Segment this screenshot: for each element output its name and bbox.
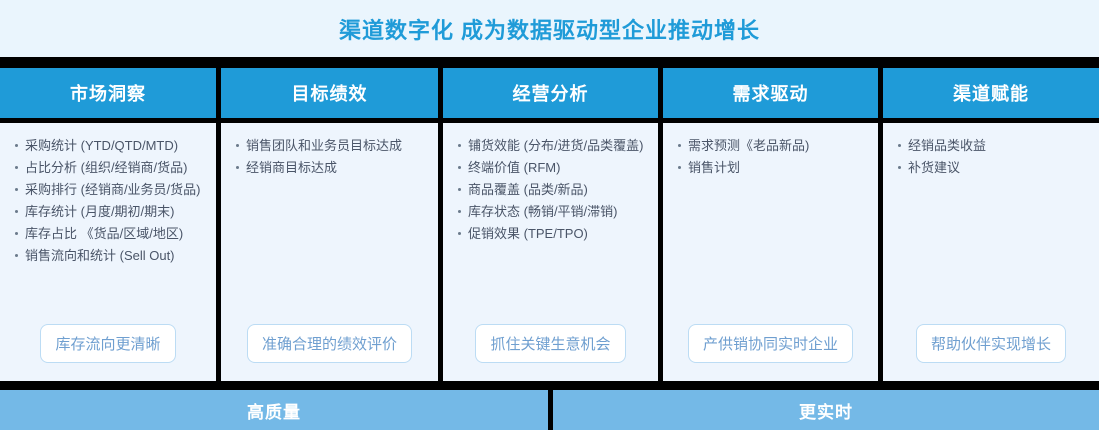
column-body-2: 销售团队和业务员目标达成 经销商目标达成 准确合理的绩效评价 [221,123,438,381]
column-header-label-3: 经营分析 [513,80,589,106]
divider-top [0,57,1099,68]
bottom-segment-label-2: 更实时 [799,398,853,423]
list-item: 促销效果 (TPE/TPO) [457,223,644,244]
bullet-list-5: 经销品类收益 补货建议 [897,135,1085,324]
column-header-label-5: 渠道赋能 [953,80,1029,106]
column-target-performance: 目标绩效 销售团队和业务员目标达成 经销商目标达成 准确合理的绩效评价 [221,68,438,381]
column-header-3: 经营分析 [443,68,658,118]
column-header-label-4: 需求驱动 [733,80,809,106]
list-item: 占比分析 (组织/经销商/货品) [14,157,202,178]
bullet-list-1: 采购统计 (YTD/QTD/MTD) 占比分析 (组织/经销商/货品) 采购排行… [14,135,202,324]
bullet-list-2: 销售团队和业务员目标达成 经销商目标达成 [235,135,424,324]
list-item: 采购统计 (YTD/QTD/MTD) [14,135,202,156]
list-item: 商品覆盖 (品类/新品) [457,179,644,200]
list-item: 补货建议 [897,157,1085,178]
column-header-label-2: 目标绩效 [292,80,368,106]
column-body-1: 采购统计 (YTD/QTD/MTD) 占比分析 (组织/经销商/货品) 采购排行… [0,123,216,381]
outcome-pill-3[interactable]: 抓住关键生意机会 [475,324,625,363]
column-header-label-1: 市场洞察 [70,80,146,106]
bullet-list-4: 需求预测《老品新品) 销售计划 [677,135,864,324]
title-band: 渠道数字化 成为数据驱动型企业推动增长 [0,0,1099,57]
column-group: 市场洞察 采购统计 (YTD/QTD/MTD) 占比分析 (组织/经销商/货品)… [0,68,1099,381]
column-market-insight: 市场洞察 采购统计 (YTD/QTD/MTD) 占比分析 (组织/经销商/货品)… [0,68,216,381]
bottom-segment-realtime: 更实时 [553,390,1099,430]
list-item: 采购排行 (经销商/业务员/货品) [14,179,202,200]
list-item: 销售计划 [677,157,864,178]
outcome-pill-2[interactable]: 准确合理的绩效评价 [247,324,412,363]
pill-wrap-1: 库存流向更清晰 [14,324,202,381]
list-item: 经销品类收益 [897,135,1085,156]
infographic-root: 渠道数字化 成为数据驱动型企业推动增长 市场洞察 采购统计 (YTD/QTD/M… [0,0,1099,430]
list-item: 经销商目标达成 [235,157,424,178]
list-item: 需求预测《老品新品) [677,135,864,156]
pill-wrap-5: 帮助伙伴实现增长 [897,324,1085,381]
bottom-segment-quality: 高质量 [0,390,548,430]
column-body-5: 经销品类收益 补货建议 帮助伙伴实现增长 [883,123,1099,381]
list-item: 铺货效能 (分布/进货/品类覆盖) [457,135,644,156]
bottom-segment-label-1: 高质量 [247,398,301,423]
column-header-4: 需求驱动 [663,68,878,118]
pill-wrap-3: 抓住关键生意机会 [457,324,644,381]
column-header-5: 渠道赋能 [883,68,1099,118]
outcome-pill-1[interactable]: 库存流向更清晰 [40,324,175,363]
outcome-pill-4[interactable]: 产供销协同实时企业 [688,324,853,363]
column-header-2: 目标绩效 [221,68,438,118]
column-body-4: 需求预测《老品新品) 销售计划 产供销协同实时企业 [663,123,878,381]
outcome-pill-5[interactable]: 帮助伙伴实现增长 [916,324,1066,363]
list-item: 终端价值 (RFM) [457,157,644,178]
pill-wrap-2: 准确合理的绩效评价 [235,324,424,381]
column-header-1: 市场洞察 [0,68,216,118]
pill-wrap-4: 产供销协同实时企业 [677,324,864,381]
bottom-bar: 高质量 更实时 [0,390,1099,430]
column-body-3: 铺货效能 (分布/进货/品类覆盖) 终端价值 (RFM) 商品覆盖 (品类/新品… [443,123,658,381]
bullet-list-3: 铺货效能 (分布/进货/品类覆盖) 终端价值 (RFM) 商品覆盖 (品类/新品… [457,135,644,324]
list-item: 库存占比 《货品/区域/地区) [14,223,202,244]
list-item: 库存统计 (月度/期初/期末) [14,201,202,222]
page-title: 渠道数字化 成为数据驱动型企业推动增长 [339,13,760,45]
column-channel-empowerment: 渠道赋能 经销品类收益 补货建议 帮助伙伴实现增长 [883,68,1099,381]
list-item: 销售流向和统计 (Sell Out) [14,245,202,266]
column-demand-driven: 需求驱动 需求预测《老品新品) 销售计划 产供销协同实时企业 [663,68,878,381]
list-item: 库存状态 (畅销/平销/滞销) [457,201,644,222]
column-business-analysis: 经营分析 铺货效能 (分布/进货/品类覆盖) 终端价值 (RFM) 商品覆盖 (… [443,68,658,381]
list-item: 销售团队和业务员目标达成 [235,135,424,156]
divider-bottom [0,381,1099,390]
